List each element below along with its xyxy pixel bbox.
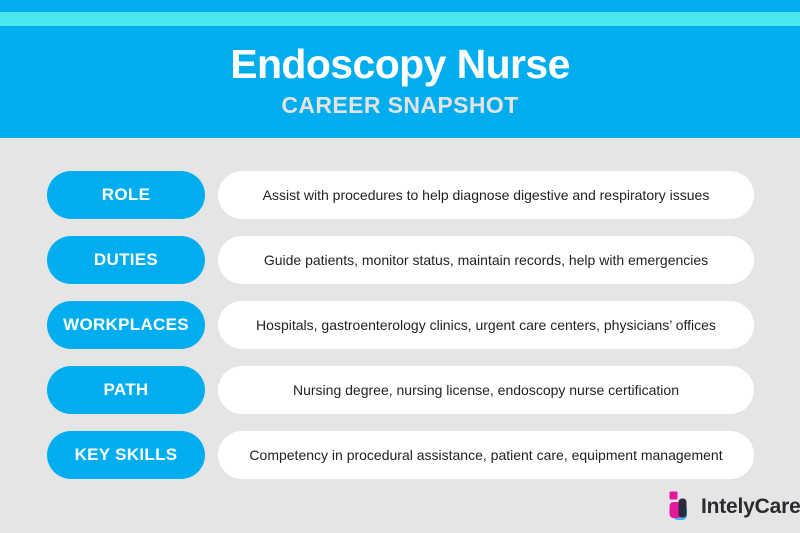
row-label-text: KEY SKILLS — [75, 445, 178, 465]
row-content-card: Assist with procedures to help diagnose … — [218, 171, 754, 219]
header-accent-stripe — [0, 12, 800, 26]
snapshot-row-workplaces: WORKPLACES Hospitals, gastroenterology c… — [47, 301, 754, 349]
row-content-card: Nursing degree, nursing license, endosco… — [218, 366, 754, 414]
snapshot-row-duties: DUTIES Guide patients, monitor status, m… — [47, 236, 754, 284]
snapshot-row-role: ROLE Assist with procedures to help diag… — [47, 171, 754, 219]
row-label-text: ROLE — [102, 185, 150, 205]
row-content-text: Nursing degree, nursing license, endosco… — [293, 382, 679, 399]
row-label-text: PATH — [104, 380, 149, 400]
row-label-text: DUTIES — [94, 250, 158, 270]
row-content-text: Competency in procedural assistance, pat… — [249, 447, 722, 464]
page-title: Endoscopy Nurse — [230, 43, 570, 86]
row-label-badge: PATH — [47, 366, 205, 414]
row-label-text: WORKPLACES — [63, 315, 189, 335]
header-banner: Endoscopy Nurse CAREER SNAPSHOT — [0, 0, 800, 138]
logo-wordmark-text: IntelyCare — [701, 495, 800, 518]
row-content-card: Guide patients, monitor status, maintain… — [218, 236, 754, 284]
row-label-badge: KEY SKILLS — [47, 431, 205, 479]
row-content-text: Guide patients, monitor status, maintain… — [264, 252, 708, 269]
row-content-text: Assist with procedures to help diagnose … — [263, 187, 710, 204]
row-content-text: Hospitals, gastroenterology clinics, urg… — [256, 317, 716, 334]
snapshot-rows: ROLE Assist with procedures to help diag… — [47, 171, 754, 479]
snapshot-row-path: PATH Nursing degree, nursing license, en… — [47, 366, 754, 414]
row-content-card: Hospitals, gastroenterology clinics, urg… — [218, 301, 754, 349]
intelycare-logo-icon — [669, 491, 693, 521]
header-text-block: Endoscopy Nurse CAREER SNAPSHOT — [0, 26, 800, 138]
row-content-card: Competency in procedural assistance, pat… — [218, 431, 754, 479]
logo-wordmark: IntelyCare ™ — [701, 496, 800, 517]
career-snapshot-infographic: Endoscopy Nurse CAREER SNAPSHOT ROLE Ass… — [0, 0, 800, 533]
page-subtitle: CAREER SNAPSHOT — [281, 94, 518, 117]
row-label-badge: WORKPLACES — [47, 301, 205, 349]
row-label-badge: ROLE — [47, 171, 205, 219]
snapshot-row-key-skills: KEY SKILLS Competency in procedural assi… — [47, 431, 754, 479]
row-label-badge: DUTIES — [47, 236, 205, 284]
brand-logo: IntelyCare ™ — [669, 491, 800, 521]
